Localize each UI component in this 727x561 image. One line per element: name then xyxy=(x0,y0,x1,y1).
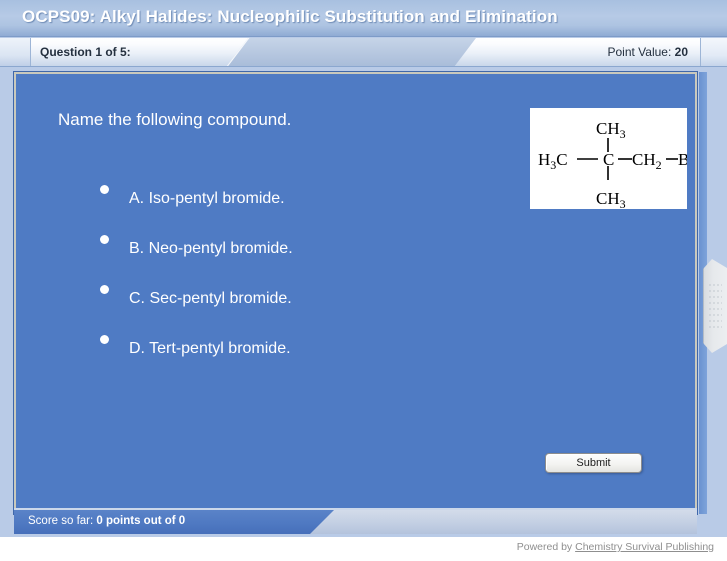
score-label: Score so far: xyxy=(28,515,93,527)
grip-dots-icon xyxy=(709,284,722,328)
footer-credit: Powered by Chemistry Survival Publishing xyxy=(517,541,714,553)
answer-option-d[interactable]: D. Tert-pentyl bromide. xyxy=(100,328,480,378)
answer-option-d-label: D. Tert-pentyl bromide. xyxy=(129,340,291,358)
status-bar-right-cap xyxy=(700,38,727,67)
question-content-panel: Name the following compound. A. Iso-pent… xyxy=(14,72,697,514)
point-value-number: 20 xyxy=(675,45,688,59)
answer-option-a-label: A. Iso-pentyl bromide. xyxy=(129,190,285,208)
status-bar-left-cap xyxy=(0,38,31,67)
answer-option-b-label: B. Neo-pentyl bromide. xyxy=(129,240,293,258)
score-bar: Score so far: 0 points out of 0 xyxy=(14,508,697,534)
question-content-inner: Name the following compound. A. Iso-pent… xyxy=(16,74,695,512)
chemical-structure-image: CH3 H3C C CH2 Br CH3 xyxy=(530,108,687,209)
score-text: Score so far: 0 points out of 0 xyxy=(28,515,185,527)
question-prompt: Name the following compound. xyxy=(58,110,291,130)
submit-button[interactable]: Submit xyxy=(545,453,642,473)
atom-top-methyl: CH3 xyxy=(596,119,626,141)
bullet-icon xyxy=(100,335,109,344)
page-title: OCPS09: Alkyl Halides: Nucleophilic Subs… xyxy=(22,7,558,27)
point-value: Point Value: 20 xyxy=(607,45,688,59)
bullet-icon xyxy=(100,235,109,244)
chemical-structure-svg: CH3 H3C C CH2 Br CH3 xyxy=(530,108,687,209)
answer-options-list: A. Iso-pentyl bromide. B. Neo-pentyl bro… xyxy=(100,178,480,378)
atom-bromine: Br xyxy=(678,150,687,169)
score-bar-right-fill xyxy=(304,510,697,534)
bullet-icon xyxy=(100,285,109,294)
atom-methylene: CH2 xyxy=(632,150,662,172)
answer-option-c[interactable]: C. Sec-pentyl bromide. xyxy=(100,278,480,328)
bullet-icon xyxy=(100,185,109,194)
title-bar: OCPS09: Alkyl Halides: Nucleophilic Subs… xyxy=(0,0,727,37)
footer: Powered by Chemistry Survival Publishing xyxy=(0,537,727,561)
structure-atom-labels: CH3 H3C C CH2 Br CH3 xyxy=(538,119,687,209)
answer-option-c-label: C. Sec-pentyl bromide. xyxy=(129,290,292,308)
structure-bonds xyxy=(577,138,678,180)
question-status-bar: Question 1 of 5: Point Value: 20 xyxy=(0,38,727,67)
answer-option-b[interactable]: B. Neo-pentyl bromide. xyxy=(100,228,480,278)
publisher-link[interactable]: Chemistry Survival Publishing xyxy=(575,541,714,553)
answer-option-a[interactable]: A. Iso-pentyl bromide. xyxy=(100,178,480,228)
atom-bottom-methyl: CH3 xyxy=(596,189,626,209)
question-counter: Question 1 of 5: xyxy=(40,45,131,59)
score-value: 0 points out of 0 xyxy=(96,515,185,527)
atom-left-methyl: H3C xyxy=(538,150,568,172)
status-bar-diagonal-segment xyxy=(226,38,476,67)
quiz-application-window: OCPS09: Alkyl Halides: Nucleophilic Subs… xyxy=(0,0,727,537)
powered-by-label: Powered by xyxy=(517,541,572,553)
atom-quaternary-carbon: C xyxy=(603,150,614,169)
point-value-label: Point Value: xyxy=(607,45,671,59)
